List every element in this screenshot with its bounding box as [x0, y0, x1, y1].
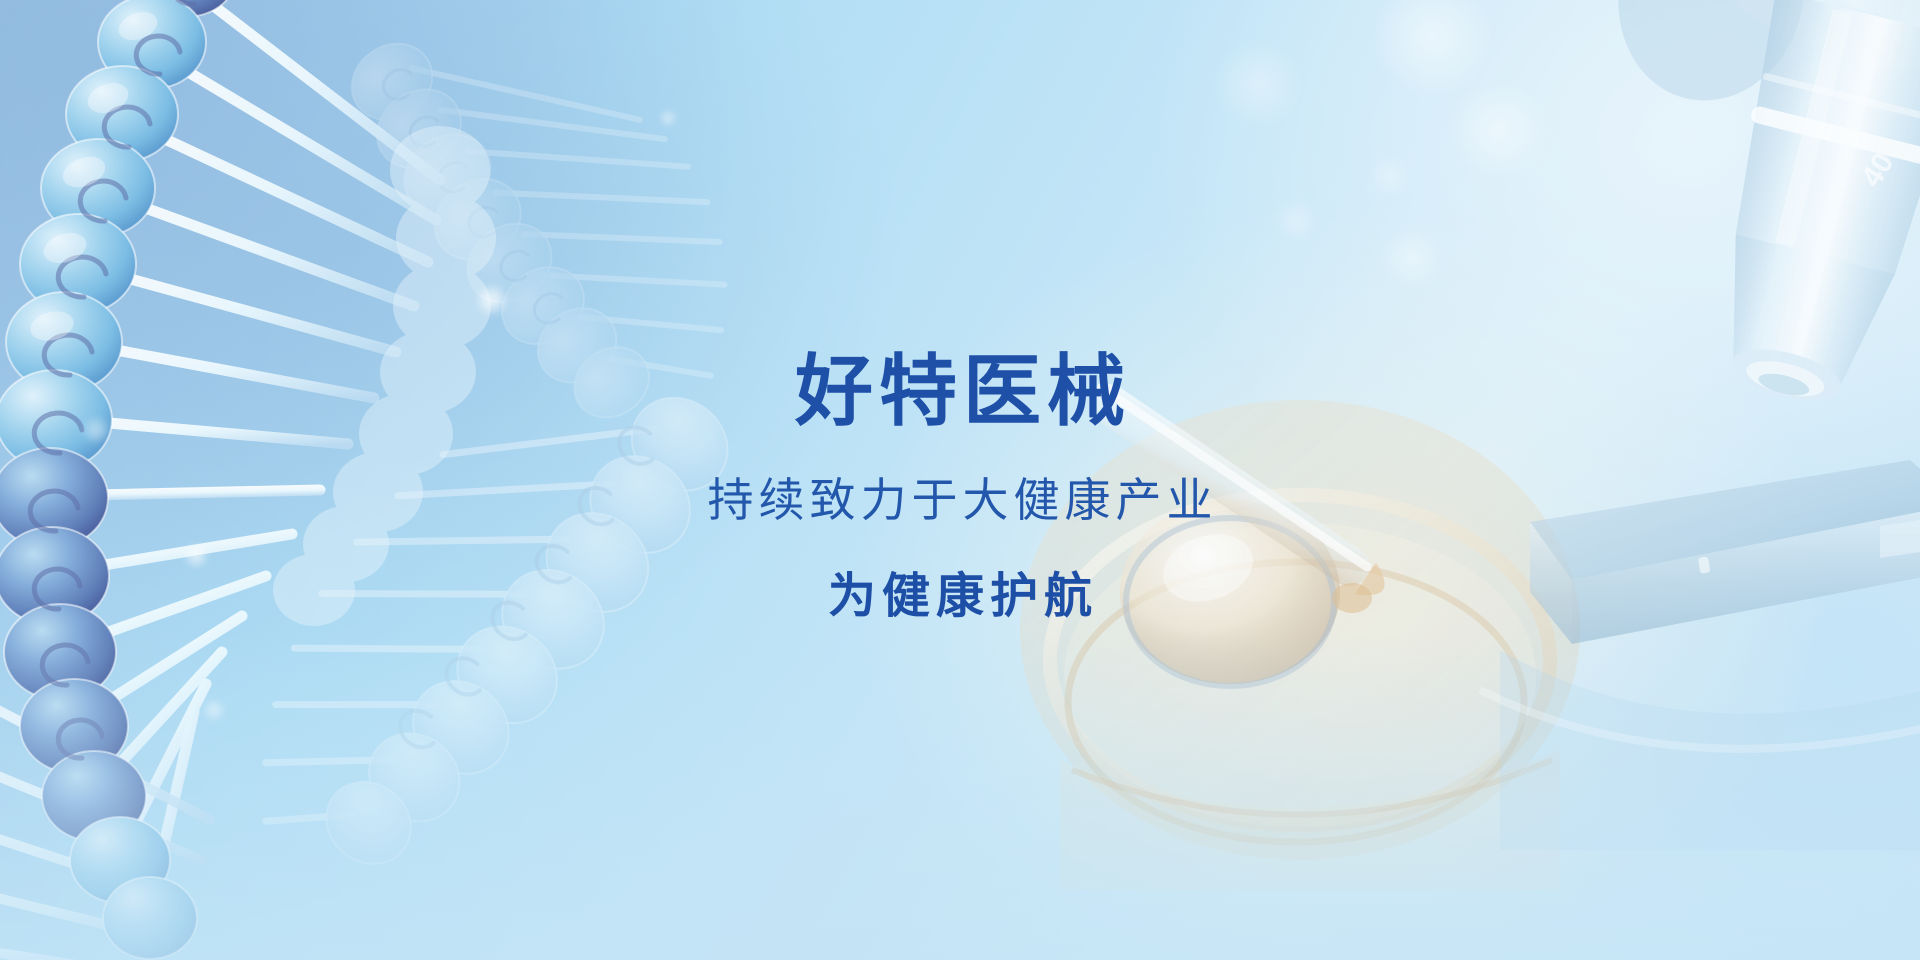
banner-title: 好特医械 [789, 352, 1131, 432]
banner-tagline: 为健康护航 [822, 573, 1098, 621]
banner-subtitle: 持续致力于大健康产业 [703, 477, 1218, 523]
hero-banner: 40 [0, 0, 1920, 960]
hero-text-block: 好特医械 持续致力于大健康产业 为健康护航 [0, 0, 1920, 960]
